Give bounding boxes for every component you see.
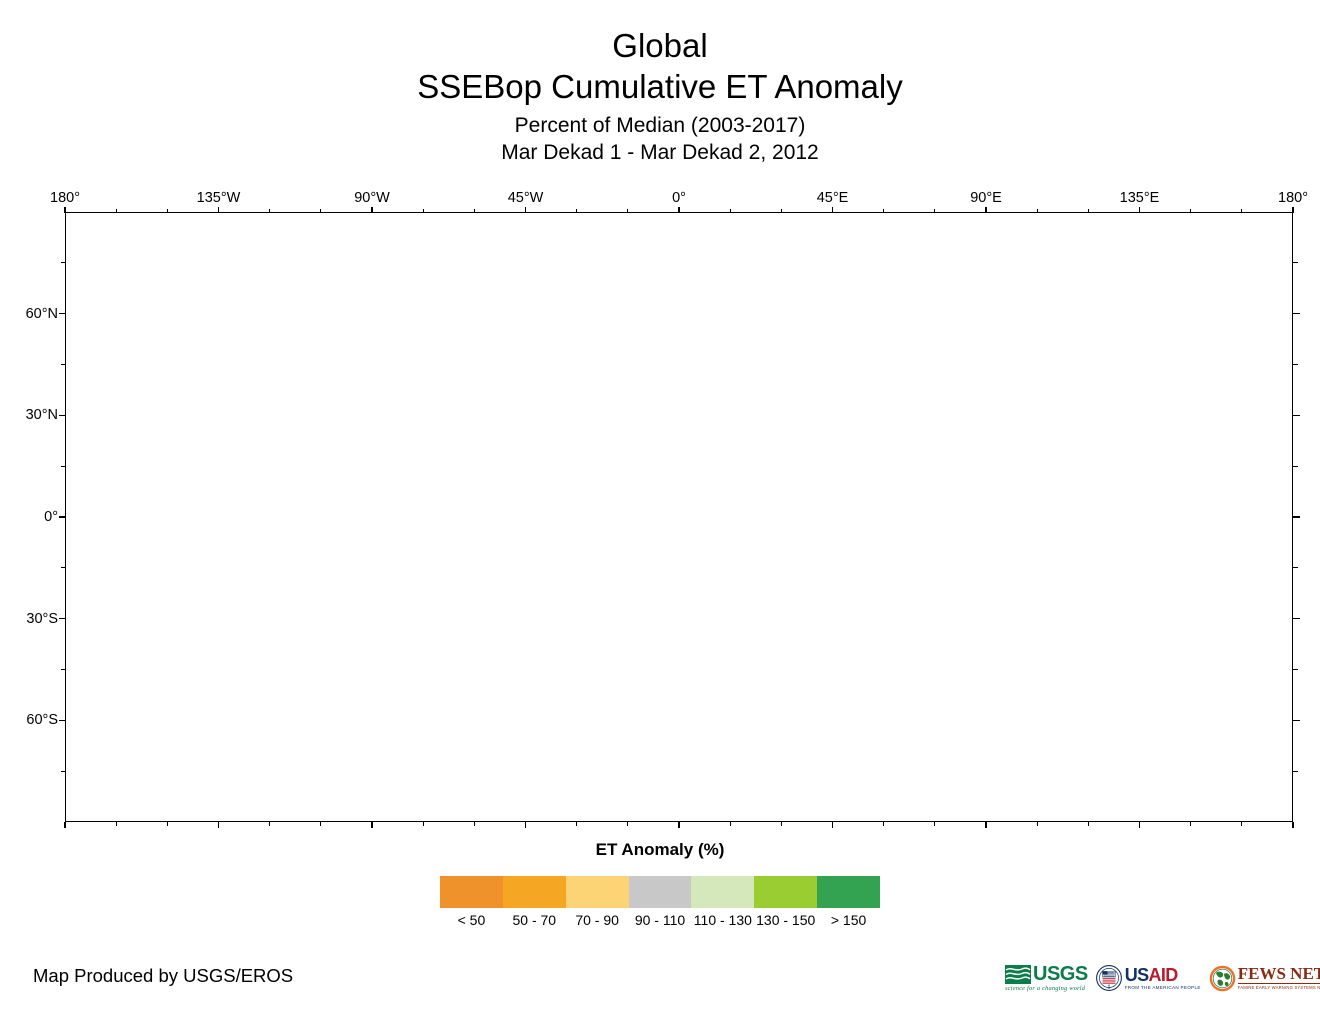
legend-swatch-0 — [440, 876, 503, 908]
subtitle-period: Mar Dekad 1 - Mar Dekad 2, 2012 — [0, 139, 1320, 166]
lon-minor-tick-top--75 — [423, 209, 424, 213]
lat-tick-mark-right-1 — [1293, 415, 1300, 416]
lon-minor-tick-top-165 — [1241, 209, 1242, 213]
legend-swatch-2 — [566, 876, 629, 908]
title-block: Global SSEBop Cumulative ET Anomaly Perc… — [0, 0, 1320, 166]
lon-minor-tick-top--15 — [627, 209, 628, 213]
lon-tick-label-4: 0° — [672, 190, 686, 206]
lat-tick-label-2: 0° — [8, 509, 58, 525]
lat-tick-mark-left-3 — [59, 618, 66, 619]
subtitle-percent-of-median: Percent of Median (2003-2017) — [0, 112, 1320, 139]
legend-title: ET Anomaly (%) — [0, 840, 1320, 860]
lon-minor-tick-bottom--60 — [474, 822, 475, 826]
lon-minor-tick-bottom-15 — [730, 822, 731, 826]
usaid-wordmark: USAID — [1125, 967, 1178, 984]
usgs-logo-top: USGS — [1005, 965, 1088, 984]
legend-swatch-1 — [503, 876, 566, 908]
lon-minor-tick-top--105 — [320, 209, 321, 213]
lon-tick-mark-top-6 — [985, 207, 986, 213]
lat-minor-tick-left-15 — [61, 466, 66, 467]
legend-color-bar — [440, 876, 880, 908]
lat-tick-mark-left-1 — [59, 415, 66, 416]
legend-label-2: 70 - 90 — [575, 912, 619, 928]
lon-minor-tick-bottom-75 — [934, 822, 935, 826]
legend-label-4: 110 - 130 — [694, 912, 752, 928]
lon-tick-mark-top-3 — [525, 207, 526, 213]
legend-swatch-6 — [817, 876, 880, 908]
lon-minor-tick-top--30 — [576, 209, 577, 213]
lon-tick-mark-top-1 — [218, 207, 219, 213]
lon-tick-mark-bottom-4 — [678, 822, 679, 828]
lon-tick-label-8: 180° — [1278, 190, 1308, 206]
lon-tick-mark-top-7 — [1139, 207, 1140, 213]
fews-net-wordmark: FEWS NET — [1238, 966, 1320, 982]
lon-minor-tick-top-120 — [1088, 209, 1089, 213]
lat-minor-tick-right-75 — [1293, 262, 1298, 263]
lon-tick-label-5: 45°E — [817, 190, 849, 206]
lon-tick-mark-top-8 — [1292, 207, 1293, 213]
legend-label-1: 50 - 70 — [512, 912, 556, 928]
logo-row: USGS science for a changing world — [1005, 956, 1305, 1000]
lat-tick-label-1: 30°N — [8, 407, 58, 423]
lat-minor-tick-left--15 — [61, 567, 66, 568]
legend-swatch-3 — [629, 876, 692, 908]
lon-minor-tick-top-150 — [1190, 209, 1191, 213]
lon-tick-label-7: 135°E — [1120, 190, 1160, 206]
usgs-logo[interactable]: USGS science for a changing world — [1005, 958, 1088, 998]
usaid-logo[interactable]: USAID FROM THE AMERICAN PEOPLE — [1096, 958, 1201, 998]
lat-minor-tick-left--45 — [61, 669, 66, 670]
lon-minor-tick-top-15 — [730, 209, 731, 213]
lon-minor-tick-bottom-30 — [781, 822, 782, 826]
map-plot-area[interactable] — [65, 212, 1293, 822]
lon-minor-tick-bottom--30 — [576, 822, 577, 826]
lon-tick-mark-top-4 — [678, 207, 679, 213]
lon-tick-label-3: 45°W — [508, 190, 544, 206]
usaid-text-block: USAID FROM THE AMERICAN PEOPLE — [1125, 967, 1201, 990]
lon-minor-tick-bottom--165 — [116, 822, 117, 826]
fews-text-block: FEWS NET FAMINE EARLY WARNING SYSTEMS NE… — [1238, 966, 1320, 990]
usaid-wordmark-us: US — [1125, 965, 1149, 985]
lon-minor-tick-bottom--75 — [423, 822, 424, 826]
map-frame-border — [65, 212, 1293, 822]
lat-minor-tick-right--15 — [1293, 567, 1298, 568]
lon-minor-tick-top--120 — [269, 209, 270, 213]
legend-class-labels: < 5050 - 7070 - 9090 - 110110 - 130130 -… — [434, 912, 886, 932]
lon-minor-tick-bottom--120 — [269, 822, 270, 826]
legend: ET Anomaly (%) < 5050 - 7070 - 9090 - 11… — [0, 840, 1320, 932]
lat-tick-mark-left-0 — [59, 313, 66, 314]
lat-tick-mark-right-0 — [1293, 313, 1300, 314]
lat-minor-tick-right-15 — [1293, 466, 1298, 467]
lat-tick-label-4: 60°S — [8, 712, 58, 728]
lon-minor-tick-top-60 — [883, 209, 884, 213]
usgs-tagline: science for a changing world — [1005, 985, 1085, 992]
lon-tick-mark-bottom-7 — [1139, 822, 1140, 828]
lon-minor-tick-bottom-150 — [1190, 822, 1191, 826]
usaid-wordmark-aid: AID — [1149, 965, 1178, 985]
lon-tick-label-1: 135°W — [197, 190, 241, 206]
lon-tick-mark-bottom-1 — [218, 822, 219, 828]
lon-minor-tick-bottom--105 — [320, 822, 321, 826]
lat-tick-label-3: 30°S — [8, 611, 58, 627]
lon-minor-tick-bottom--150 — [167, 822, 168, 826]
lat-tick-mark-right-2 — [1293, 516, 1300, 517]
legend-label-3: 90 - 110 — [635, 912, 685, 928]
lon-tick-mark-bottom-5 — [832, 822, 833, 828]
lat-tick-mark-left-4 — [59, 720, 66, 721]
lon-tick-mark-bottom-8 — [1292, 822, 1293, 828]
usgs-wordmark: USGS — [1033, 965, 1088, 984]
lat-minor-tick-right--45 — [1293, 669, 1298, 670]
footer-credit: Map Produced by USGS/EROS — [33, 965, 293, 987]
lat-tick-label-0: 60°N — [8, 306, 58, 322]
lon-tick-mark-top-5 — [832, 207, 833, 213]
lon-tick-label-2: 90°W — [354, 190, 390, 206]
legend-label-0: < 50 — [458, 912, 486, 928]
fews-net-tagline: FAMINE EARLY WARNING SYSTEMS NETWORK — [1238, 985, 1320, 990]
lon-tick-mark-bottom-2 — [371, 822, 372, 828]
lon-minor-tick-top--60 — [474, 209, 475, 213]
lat-minor-tick-left--75 — [61, 771, 66, 772]
lon-minor-tick-bottom-120 — [1088, 822, 1089, 826]
lon-minor-tick-top-30 — [781, 209, 782, 213]
usgs-wave-icon — [1005, 965, 1031, 984]
fews-net-rule — [1238, 983, 1320, 984]
lat-minor-tick-left-45 — [61, 364, 66, 365]
lon-tick-label-0: 180° — [50, 190, 80, 206]
fews-net-logo[interactable]: FEWS NET FAMINE EARLY WARNING SYSTEMS NE… — [1209, 958, 1320, 998]
fews-globe-icon — [1209, 965, 1236, 992]
legend-label-5: 130 - 150 — [756, 912, 815, 928]
lat-minor-tick-right--75 — [1293, 771, 1298, 772]
lat-minor-tick-left-75 — [61, 262, 66, 263]
lon-minor-tick-top-105 — [1037, 209, 1038, 213]
lon-minor-tick-bottom-165 — [1241, 822, 1242, 826]
lon-minor-tick-top--150 — [167, 209, 168, 213]
lon-minor-tick-bottom-60 — [883, 822, 884, 826]
page-title-line-2: SSEBop Cumulative ET Anomaly — [0, 66, 1320, 108]
lat-tick-mark-right-3 — [1293, 618, 1300, 619]
lon-tick-label-6: 90°E — [970, 190, 1002, 206]
lon-minor-tick-bottom--15 — [627, 822, 628, 826]
lat-tick-mark-right-4 — [1293, 720, 1300, 721]
usaid-tagline: FROM THE AMERICAN PEOPLE — [1125, 985, 1201, 990]
page-title-line-1: Global — [0, 26, 1320, 66]
lat-tick-mark-left-2 — [59, 516, 66, 517]
lat-minor-tick-right-45 — [1293, 364, 1298, 365]
lon-minor-tick-bottom-105 — [1037, 822, 1038, 826]
lon-tick-mark-top-2 — [371, 207, 372, 213]
lon-tick-mark-bottom-6 — [985, 822, 986, 828]
lon-minor-tick-top--165 — [116, 209, 117, 213]
legend-swatch-4 — [691, 876, 754, 908]
lon-tick-mark-top-0 — [64, 207, 65, 213]
lon-tick-mark-bottom-3 — [525, 822, 526, 828]
legend-swatch-5 — [754, 876, 817, 908]
lon-tick-mark-bottom-0 — [64, 822, 65, 828]
lon-minor-tick-top-75 — [934, 209, 935, 213]
legend-label-6: > 150 — [831, 912, 866, 928]
usaid-seal-icon — [1096, 965, 1122, 991]
